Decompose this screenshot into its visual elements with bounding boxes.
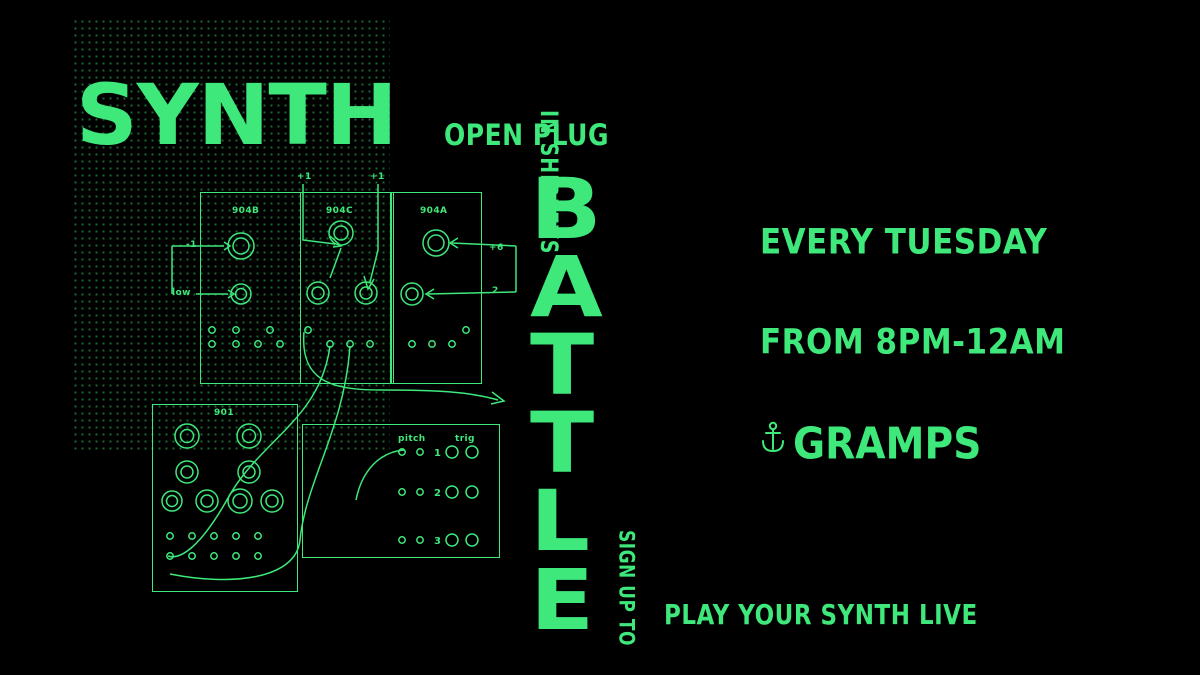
module-901-frame [152, 404, 298, 592]
label-904a: 904A [420, 206, 447, 216]
headline-play-your-synth-live: PLAY YOUR SYNTH LIVE [664, 600, 978, 631]
poster-canvas: SYNTH OPEN PLUG IN SHIRLEYS B A T T L E … [0, 0, 1200, 675]
headline-synth: SYNTH [76, 78, 397, 154]
anchor-icon [758, 420, 788, 454]
sequencer-row-number: 1 [434, 448, 441, 459]
annotation-low: low [172, 288, 191, 298]
headline-battle: B A T T L E [530, 170, 601, 639]
battle-letter: E [530, 561, 601, 639]
annotation-plus-one-right: +1 [370, 172, 385, 182]
battle-letter: T [530, 404, 601, 482]
label-904c: 904C [326, 206, 353, 216]
annotation-trig: trig [455, 434, 475, 444]
annotation-minus-one: -1 [186, 240, 197, 250]
arrowhead [491, 392, 504, 404]
sequencer-row-number: 3 [434, 536, 441, 547]
label-901: 901 [214, 408, 234, 418]
module-904a-frame [390, 192, 482, 384]
battle-letter: T [530, 326, 601, 404]
label-904b: 904B [232, 206, 259, 216]
sequencer-row-number: 2 [434, 488, 441, 499]
annotation-plus-one-left: +1 [297, 172, 312, 182]
event-day: EVERY TUESDAY [760, 222, 1047, 262]
battle-letter: B [530, 170, 601, 248]
module-sequencer-frame [302, 424, 500, 558]
annotation-two: 2 [492, 286, 499, 296]
event-time: FROM 8PM-12AM [760, 322, 1066, 362]
module-904c-frame [300, 192, 394, 384]
headline-open-plug: OPEN PLUG [444, 118, 609, 152]
headline-sign-up-to: SIGN UP TO [613, 530, 638, 646]
venue-name: GRAMPS [793, 418, 981, 469]
annotation-pitch: pitch [398, 434, 426, 444]
battle-letter: A [530, 248, 601, 326]
annotation-plus-six: +6 [489, 243, 504, 253]
battle-letter: L [530, 482, 601, 560]
